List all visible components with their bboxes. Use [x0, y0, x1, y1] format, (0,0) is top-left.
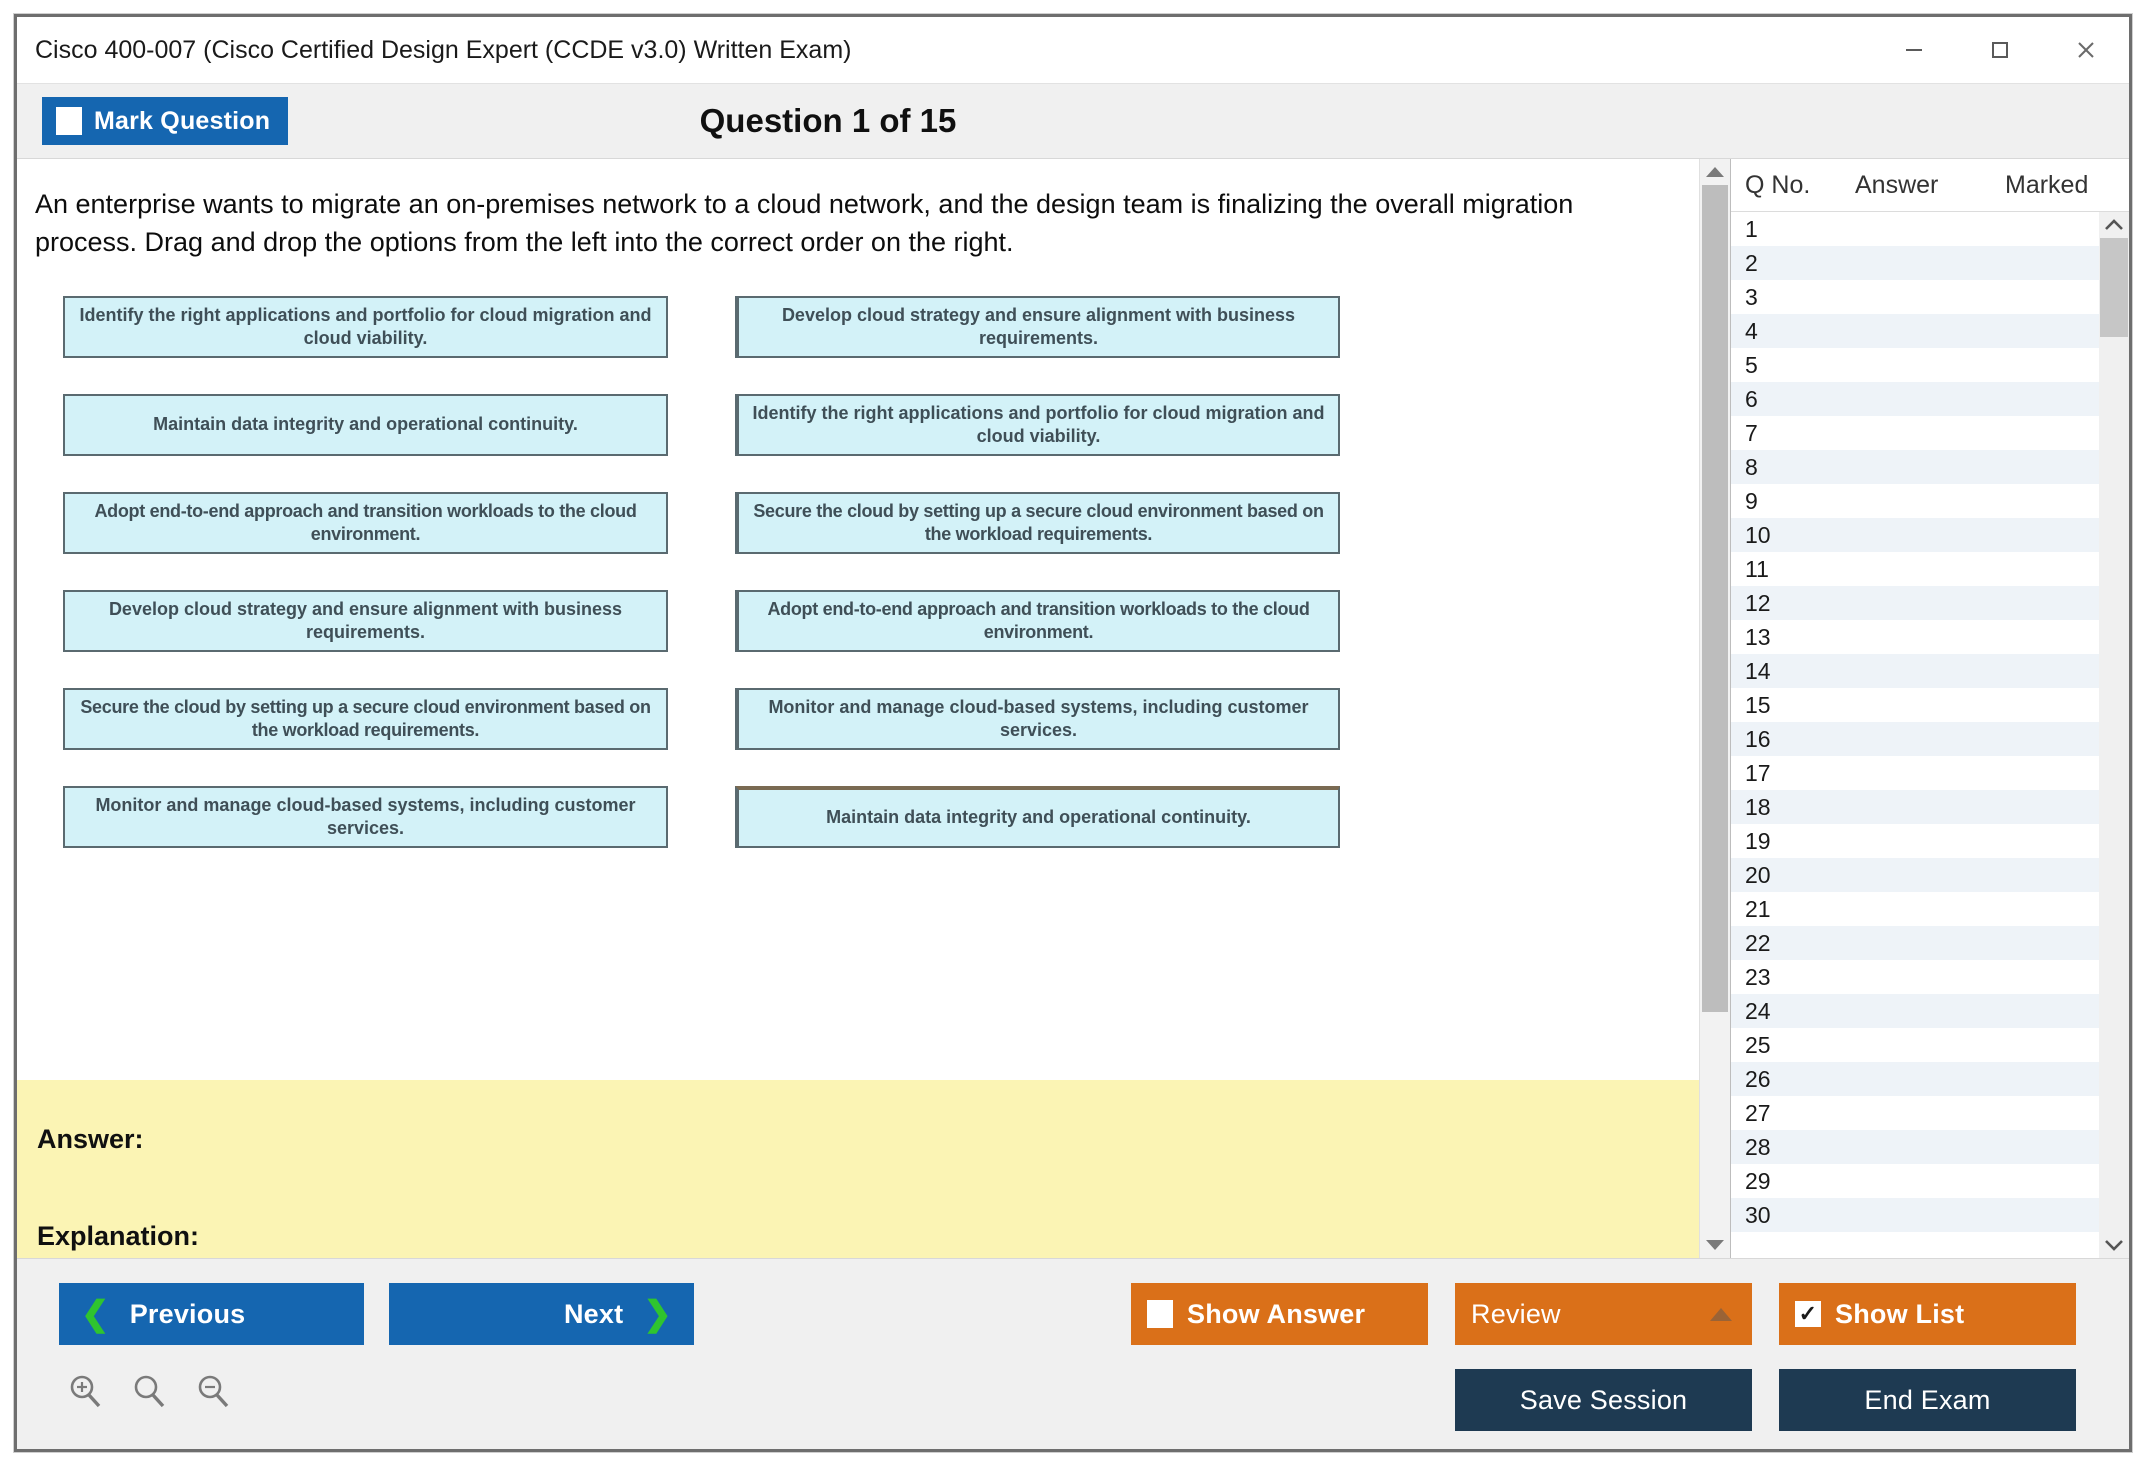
cell-qno: 16: [1731, 726, 1841, 753]
exam-window: Cisco 400-007 (Cisco Certified Design Ex…: [14, 14, 2132, 1452]
show-answer-label: Show Answer: [1187, 1299, 1365, 1330]
table-row[interactable]: 26: [1731, 1062, 2099, 1096]
question-list-body: 1234567891011121314151617181920212223242…: [1731, 212, 2129, 1258]
scroll-up-arrow-icon[interactable]: [1700, 159, 1730, 185]
table-row[interactable]: 17: [1731, 756, 2099, 790]
table-row[interactable]: 7: [1731, 416, 2099, 450]
review-dropdown-button[interactable]: Review: [1455, 1283, 1752, 1345]
zoom-reset-icon[interactable]: [129, 1371, 169, 1416]
source-option[interactable]: Develop cloud strategy and ensure alignm…: [63, 590, 668, 652]
cell-qno: 30: [1731, 1202, 1841, 1229]
cell-qno: 14: [1731, 658, 1841, 685]
scroll-down-arrow-icon[interactable]: [1700, 1232, 1730, 1258]
mark-question-checkbox-icon[interactable]: [56, 107, 82, 135]
drag-and-drop-area: Identify the right applications and port…: [17, 296, 1699, 886]
table-row[interactable]: 14: [1731, 654, 2099, 688]
next-button[interactable]: Next ❯: [389, 1283, 694, 1345]
zoom-controls: [65, 1371, 233, 1416]
chevron-right-icon: ❯: [643, 1297, 672, 1331]
target-slot[interactable]: Identify the right applications and port…: [735, 394, 1340, 456]
table-row[interactable]: 12: [1731, 586, 2099, 620]
target-slot[interactable]: Maintain data integrity and operational …: [735, 786, 1340, 848]
close-icon[interactable]: [2043, 17, 2129, 83]
cell-qno: 23: [1731, 964, 1841, 991]
cell-qno: 1: [1731, 216, 1841, 243]
table-row[interactable]: 21: [1731, 892, 2099, 926]
end-exam-button[interactable]: End Exam: [1779, 1369, 2076, 1431]
cell-qno: 10: [1731, 522, 1841, 549]
table-row[interactable]: 28: [1731, 1130, 2099, 1164]
minimize-icon[interactable]: [1871, 17, 1957, 83]
cell-qno: 11: [1731, 556, 1841, 583]
cell-qno: 12: [1731, 590, 1841, 617]
table-row[interactable]: 6: [1731, 382, 2099, 416]
cell-qno: 20: [1731, 862, 1841, 889]
save-session-button[interactable]: Save Session: [1455, 1369, 1752, 1431]
bottom-toolbar: ❮ Previous Next ❯ Show Answer Review: [17, 1259, 2129, 1449]
save-session-label: Save Session: [1520, 1385, 1688, 1416]
question-pane: An enterprise wants to migrate an on-pre…: [17, 159, 1699, 1258]
chevron-up-icon: [1710, 1308, 1732, 1321]
table-row[interactable]: 20: [1731, 858, 2099, 892]
cell-qno: 13: [1731, 624, 1841, 651]
table-row[interactable]: 29: [1731, 1164, 2099, 1198]
cell-qno: 2: [1731, 250, 1841, 277]
cell-qno: 22: [1731, 930, 1841, 957]
list-scroll-up-arrow-icon[interactable]: [2099, 212, 2129, 238]
target-slot[interactable]: Develop cloud strategy and ensure alignm…: [735, 296, 1340, 358]
target-slot[interactable]: Adopt end-to-end approach and transition…: [735, 590, 1340, 652]
cell-qno: 17: [1731, 760, 1841, 787]
cell-qno: 15: [1731, 692, 1841, 719]
table-row[interactable]: 10: [1731, 518, 2099, 552]
table-row[interactable]: 30: [1731, 1198, 2099, 1232]
question-list-rows: 1234567891011121314151617181920212223242…: [1731, 212, 2099, 1258]
question-scroll-region: An enterprise wants to migrate an on-pre…: [17, 159, 1699, 1080]
table-row[interactable]: 4: [1731, 314, 2099, 348]
window-title: Cisco 400-007 (Cisco Certified Design Ex…: [17, 36, 851, 65]
table-row[interactable]: 23: [1731, 960, 2099, 994]
cell-qno: 21: [1731, 896, 1841, 923]
end-exam-label: End Exam: [1864, 1385, 1990, 1416]
target-slot[interactable]: Secure the cloud by setting up a secure …: [735, 492, 1340, 554]
show-list-checkbox-icon[interactable]: ✓: [1795, 1301, 1821, 1327]
answer-panel: Answer: Explanation:: [17, 1080, 1699, 1258]
cell-qno: 7: [1731, 420, 1841, 447]
table-row[interactable]: 2: [1731, 246, 2099, 280]
target-slot[interactable]: Monitor and manage cloud-based systems, …: [735, 688, 1340, 750]
scrollbar-track[interactable]: [1700, 185, 1730, 1232]
title-bar: Cisco 400-007 (Cisco Certified Design Ex…: [17, 17, 2129, 84]
table-row[interactable]: 11: [1731, 552, 2099, 586]
table-row[interactable]: 19: [1731, 824, 2099, 858]
column-header-marked: Marked: [2005, 171, 2129, 200]
show-list-button[interactable]: ✓ Show List: [1779, 1283, 2076, 1345]
table-row[interactable]: 16: [1731, 722, 2099, 756]
exam-toolbar: Mark Question Question 1 of 15: [17, 84, 2129, 159]
cell-qno: 9: [1731, 488, 1841, 515]
cell-qno: 29: [1731, 1168, 1841, 1195]
list-scrollbar-track[interactable]: [2099, 238, 2129, 1232]
next-label: Next: [564, 1299, 623, 1330]
cell-qno: 27: [1731, 1100, 1841, 1127]
show-answer-button[interactable]: Show Answer: [1131, 1283, 1428, 1345]
source-option[interactable]: Monitor and manage cloud-based systems, …: [63, 786, 668, 848]
source-options-column: Identify the right applications and port…: [63, 296, 668, 884]
list-scrollbar-thumb[interactable]: [2100, 238, 2128, 337]
table-row[interactable]: 1: [1731, 212, 2099, 246]
question-text: An enterprise wants to migrate an on-pre…: [17, 159, 1699, 262]
mark-question-label: Mark Question: [94, 107, 270, 136]
table-row[interactable]: 15: [1731, 688, 2099, 722]
column-header-qno: Q No.: [1731, 171, 1855, 200]
cell-qno: 18: [1731, 794, 1841, 821]
answer-label: Answer:: [37, 1124, 1699, 1155]
source-option[interactable]: Secure the cloud by setting up a secure …: [63, 688, 668, 750]
scrollbar-thumb[interactable]: [1702, 185, 1728, 1012]
table-row[interactable]: 18: [1731, 790, 2099, 824]
cell-qno: 8: [1731, 454, 1841, 481]
question-list-scrollbar[interactable]: [2099, 212, 2129, 1258]
table-row[interactable]: 3: [1731, 280, 2099, 314]
mark-question-button[interactable]: Mark Question: [42, 97, 288, 145]
cell-qno: 19: [1731, 828, 1841, 855]
cell-qno: 5: [1731, 352, 1841, 379]
table-row[interactable]: 8: [1731, 450, 2099, 484]
question-list-header: Q No. Answer Marked: [1731, 159, 2129, 212]
review-label: Review: [1471, 1299, 1561, 1330]
table-row[interactable]: 22: [1731, 926, 2099, 960]
table-row[interactable]: 27: [1731, 1096, 2099, 1130]
table-row[interactable]: 25: [1731, 1028, 2099, 1062]
explanation-label: Explanation:: [37, 1221, 1699, 1252]
previous-button[interactable]: ❮ Previous: [59, 1283, 364, 1345]
table-row[interactable]: 9: [1731, 484, 2099, 518]
question-counter: Question 1 of 15: [17, 102, 2129, 140]
list-scroll-down-arrow-icon[interactable]: [2099, 1232, 2129, 1258]
table-row[interactable]: 24: [1731, 994, 2099, 1028]
show-answer-checkbox-icon[interactable]: [1147, 1300, 1173, 1328]
question-list-pane: Q No. Answer Marked 12345678910111213141…: [1730, 159, 2129, 1258]
source-option[interactable]: Identify the right applications and port…: [63, 296, 668, 358]
cell-qno: 25: [1731, 1032, 1841, 1059]
chevron-left-icon: ❮: [81, 1297, 110, 1331]
cell-qno: 24: [1731, 998, 1841, 1025]
maximize-icon[interactable]: [1957, 17, 2043, 83]
window-controls: [1871, 17, 2129, 83]
cell-qno: 4: [1731, 318, 1841, 345]
target-slots-column: Develop cloud strategy and ensure alignm…: [735, 296, 1340, 884]
zoom-in-icon[interactable]: [65, 1371, 105, 1416]
exam-body: An enterprise wants to migrate an on-pre…: [17, 159, 2129, 1259]
zoom-out-icon[interactable]: [193, 1371, 233, 1416]
cell-qno: 28: [1731, 1134, 1841, 1161]
cell-qno: 26: [1731, 1066, 1841, 1093]
table-row[interactable]: 5: [1731, 348, 2099, 382]
cell-qno: 6: [1731, 386, 1841, 413]
question-pane-scrollbar[interactable]: [1699, 159, 1730, 1258]
cell-qno: 3: [1731, 284, 1841, 311]
table-row[interactable]: 13: [1731, 620, 2099, 654]
source-option[interactable]: Maintain data integrity and operational …: [63, 394, 668, 456]
previous-label: Previous: [130, 1299, 246, 1330]
show-list-label: Show List: [1835, 1299, 1964, 1330]
column-header-answer: Answer: [1855, 171, 2005, 200]
source-option[interactable]: Adopt end-to-end approach and transition…: [63, 492, 668, 554]
